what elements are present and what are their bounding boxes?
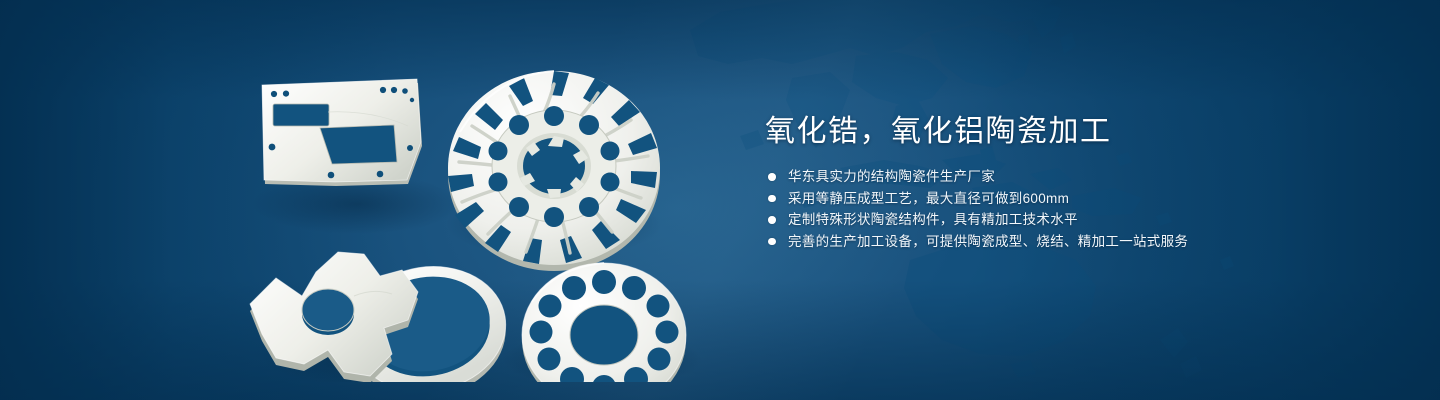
ceramic-mounting-plate <box>262 79 422 186</box>
bullet-dot-icon <box>768 238 776 246</box>
list-item-label: 华东具实力的结构陶瓷件生产厂家 <box>788 169 995 184</box>
ceramic-perforated-disc <box>522 263 686 382</box>
banner-feature-list: 华东具实力的结构陶瓷件生产厂家 采用等静压成型工艺，最大直径可做到600mm 定… <box>765 170 1385 248</box>
list-item: 华东具实力的结构陶瓷件生产厂家 <box>765 170 1385 184</box>
ceramic-bladed-impeller <box>448 71 660 271</box>
banner-copy: 氧化锆，氧化铝陶瓷加工 华东具实力的结构陶瓷件生产厂家 采用等静压成型工艺，最大… <box>765 112 1385 248</box>
bullet-dot-icon <box>768 173 776 181</box>
hero-banner: 氧化锆，氧化铝陶瓷加工 华东具实力的结构陶瓷件生产厂家 采用等静压成型工艺，最大… <box>0 0 1440 400</box>
list-item: 采用等静压成型工艺，最大直径可做到600mm <box>765 192 1385 206</box>
banner-headline: 氧化锆，氧化铝陶瓷加工 <box>765 112 1385 152</box>
list-item-label: 定制特殊形状陶瓷结构件，具有精加工技术水平 <box>788 212 1078 227</box>
ceramic-cross-plate-and-ring <box>250 252 515 382</box>
bullet-dot-icon <box>768 195 776 203</box>
list-item: 完善的生产加工设备，可提供陶瓷成型、烧结、精加工一站式服务 <box>765 235 1385 249</box>
ceramic-parts-image <box>232 52 702 382</box>
bullet-dot-icon <box>768 216 776 224</box>
list-item-label: 完善的生产加工设备，可提供陶瓷成型、烧结、精加工一站式服务 <box>788 234 1188 249</box>
list-item: 定制特殊形状陶瓷结构件，具有精加工技术水平 <box>765 213 1385 227</box>
list-item-label: 采用等静压成型工艺，最大直径可做到600mm <box>788 191 1069 206</box>
